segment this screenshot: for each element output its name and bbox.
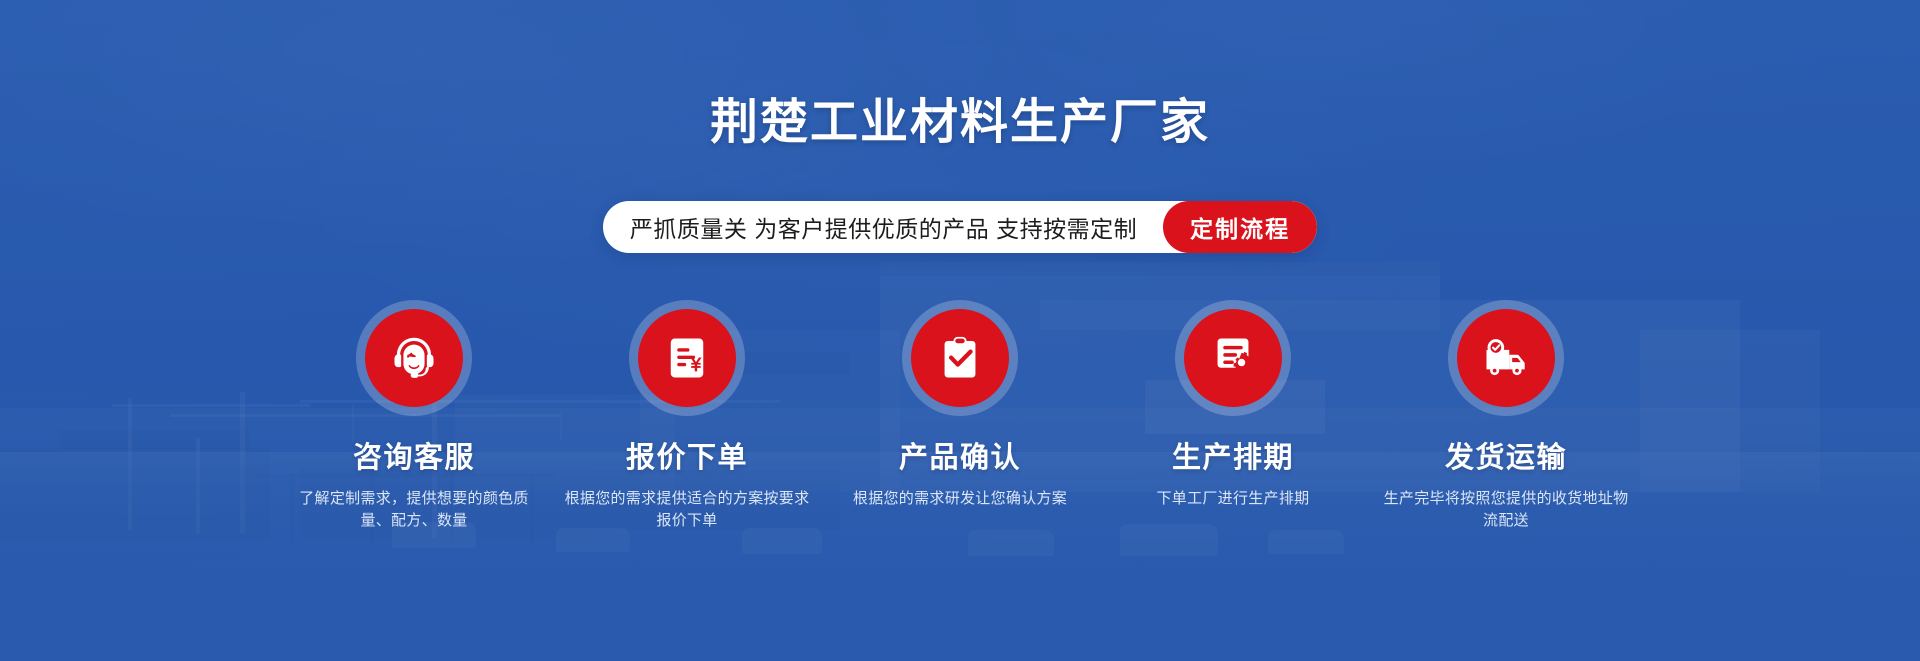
headset-support-icon [388,332,440,384]
slogan-pill: 严抓质量关 为客户提供优质的产品 支持按需定制 定制流程 [603,201,1317,253]
document-gear-icon [1207,332,1259,384]
slogan-text: 严抓质量关 为客户提供优质的产品 支持按需定制 [630,210,1163,244]
step-description: 根据您的需求提供适合的方案按要求报价下单 [562,488,812,532]
clipboard-check-icon [934,332,986,384]
page-title: 荆楚工业材料生产厂家 [0,99,1920,147]
process-step[interactable]: 发货运输 生产完毕将按照您提供的收货地址物流配送 [1372,300,1640,532]
quote-invoice-yen-icon [661,332,713,384]
step-icon-circle[interactable] [1448,300,1564,416]
step-icon-circle[interactable] [902,300,1018,416]
step-title: 产品确认 [899,444,1021,473]
step-icon-circle[interactable] [356,300,472,416]
process-steps: 咨询客服 了解定制需求，提供想要的颜色质量、配方、数量 [280,300,1640,532]
process-banner: 荆楚工业材料生产厂家 严抓质量关 为客户提供优质的产品 支持按需定制 定制流程 [0,0,1920,661]
process-step[interactable]: 生产排期 下单工厂进行生产排期 [1099,300,1367,510]
step-description: 下单工厂进行生产排期 [1156,488,1309,510]
process-step[interactable]: 咨询客服 了解定制需求，提供想要的颜色质量、配方、数量 [280,300,548,532]
custom-process-button[interactable]: 定制流程 [1163,201,1317,253]
step-title: 生产排期 [1172,444,1294,473]
step-title: 报价下单 [626,444,748,473]
step-title: 发货运输 [1445,444,1567,473]
step-description: 了解定制需求，提供想要的颜色质量、配方、数量 [289,488,539,532]
slogan-bar: 严抓质量关 为客户提供优质的产品 支持按需定制 定制流程 [0,201,1920,253]
process-step[interactable]: 报价下单 根据您的需求提供适合的方案按要求报价下单 [553,300,821,532]
delivery-truck-check-icon [1480,332,1532,384]
step-description: 生产完毕将按照您提供的收货地址物流配送 [1381,488,1631,532]
step-icon-circle[interactable] [629,300,745,416]
step-icon-circle[interactable] [1175,300,1291,416]
step-description: 根据您的需求研发让您确认方案 [853,488,1067,510]
step-title: 咨询客服 [353,444,475,473]
process-step[interactable]: 产品确认 根据您的需求研发让您确认方案 [826,300,1094,510]
